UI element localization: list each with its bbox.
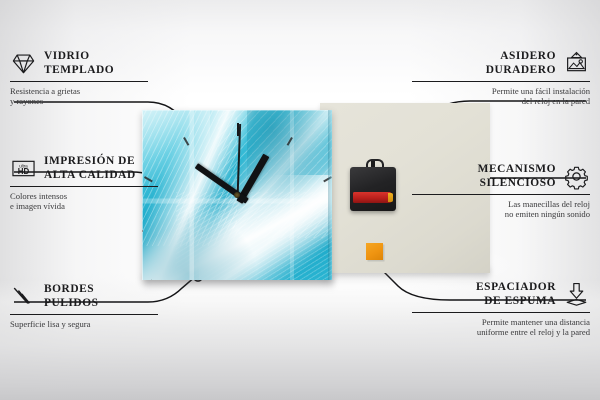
feature-title: IMPRESIÓN DE ALTA CALIDAD [44, 155, 136, 182]
feature-description: Resistencia a grietas y rayones [10, 86, 198, 107]
feature-description: Permite una fácil instalación del reloj … [402, 86, 590, 107]
feature-heading: MECANISMO SILENCIOSO [402, 163, 590, 190]
feature-heading: VIDRIO TEMPLADO [10, 50, 198, 77]
feature-rule [10, 186, 158, 187]
feature-title: VIDRIO TEMPLADO [44, 50, 114, 77]
feature-description: Colores intensos e imagen vívida [10, 191, 198, 212]
feature-rule [412, 81, 590, 82]
feature-rule [10, 81, 148, 82]
feature-rule [412, 194, 590, 195]
feature-espaciador-espuma: ESPACIADOR DE ESPUMA Permite mantener un… [402, 281, 590, 338]
diamond-icon [10, 50, 37, 77]
feature-heading: ESPACIADOR DE ESPUMA [402, 281, 590, 308]
feature-rule [10, 314, 158, 315]
gear-icon [563, 163, 590, 190]
picture-frame-hanger-icon [563, 50, 590, 77]
infographic-canvas: VIDRIO TEMPLADO Resistencia a grietas y … [0, 0, 600, 400]
feature-heading: ASIDERO DURADERO [402, 50, 590, 77]
ultra-hd-icon: ultra HD [10, 155, 37, 182]
feature-heading: ultra HD IMPRESIÓN DE ALTA CALIDAD [10, 155, 198, 182]
polished-edges-icon [10, 283, 37, 310]
feature-description: Permite mantener una distancia uniforme … [402, 317, 590, 338]
feature-impresion-hd: ultra HD IMPRESIÓN DE ALTA CALIDAD Color… [10, 155, 198, 212]
battery-positive-cap [388, 193, 393, 202]
battery [353, 192, 391, 203]
feature-title: MECANISMO SILENCIOSO [478, 163, 556, 190]
feature-title: ASIDERO DURADERO [486, 50, 556, 77]
quartz-movement [350, 167, 396, 211]
foam-spacer [366, 243, 383, 260]
feature-vidrio-templado: VIDRIO TEMPLADO Resistencia a grietas y … [10, 50, 198, 107]
glass-right-edge [328, 110, 332, 280]
feature-description: Superficie lisa y segura [10, 319, 198, 330]
feature-heading: BORDES PULIDOS [10, 283, 198, 310]
svg-text:HD: HD [18, 167, 30, 176]
feature-rule [412, 312, 590, 313]
arrow-down-spacer-icon [563, 281, 590, 308]
feature-title: ESPACIADOR DE ESPUMA [476, 281, 556, 308]
feature-bordes-pulidos: BORDES PULIDOS Superficie lisa y segura [10, 283, 198, 329]
feature-asidero-duradero: ASIDERO DURADERO Permite una fácil insta… [402, 50, 590, 107]
feature-title: BORDES PULIDOS [44, 283, 99, 310]
feature-mecanismo-silencioso: MECANISMO SILENCIOSO Las manecillas del … [402, 163, 590, 220]
feature-description: Las manecillas del reloj no emiten ningú… [402, 199, 590, 220]
